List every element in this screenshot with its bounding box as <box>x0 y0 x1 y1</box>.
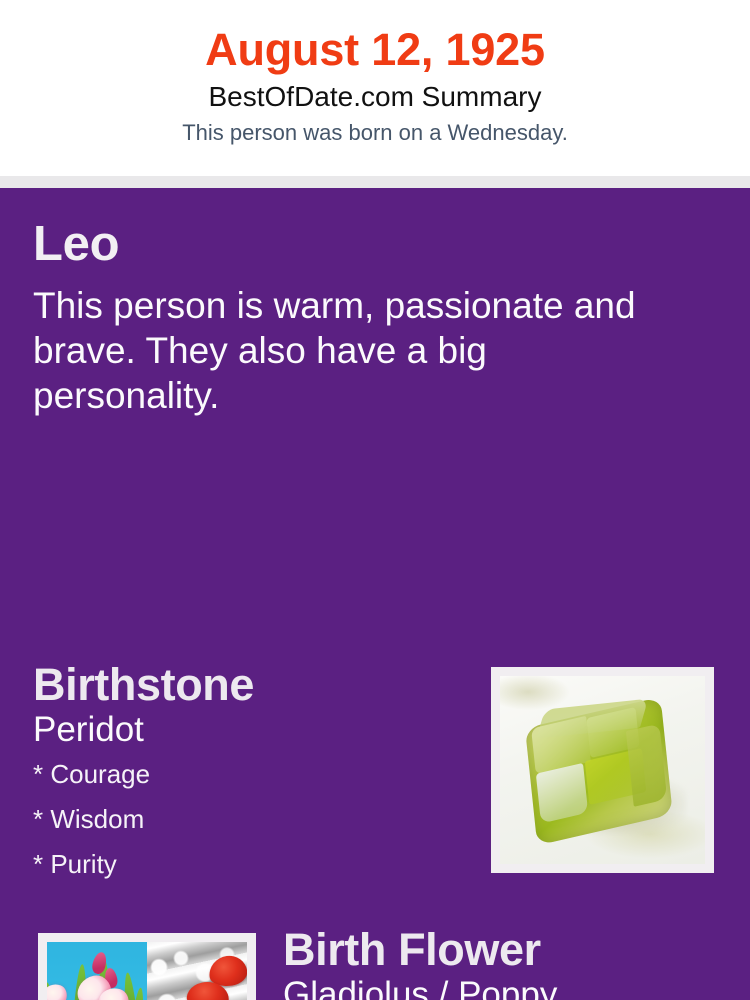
birthstone-title: Birthstone <box>33 662 463 709</box>
birthstone-name: Peridot <box>33 709 463 750</box>
gem-shape <box>523 695 679 849</box>
birthstone-photo-frame <box>491 667 714 873</box>
born-day-text: This person was born on a Wednesday. <box>0 113 750 145</box>
birth-flower-title: Birth Flower <box>283 927 723 974</box>
birth-flower-section: Birth Flower Gladiolus / Poppy * Strengt… <box>283 927 723 1000</box>
site-name-subtitle: BestOfDate.com Summary <box>0 73 750 113</box>
gladiolus-photo-half <box>47 942 147 1000</box>
birth-flower-photo-frame <box>38 933 256 1000</box>
birthstone-trait-list: * Courage * Wisdom * Purity <box>33 749 463 896</box>
zodiac-sign-title: Leo <box>33 220 693 269</box>
page-title-date: August 12, 1925 <box>0 0 750 73</box>
birth-flower-name: Gladiolus / Poppy <box>283 974 723 1000</box>
poppy-photo-half <box>147 942 247 1000</box>
list-item: * Wisdom <box>33 806 463 851</box>
content-panel: Leo This person is warm, passionate and … <box>0 188 750 1000</box>
zodiac-section: Leo This person is warm, passionate and … <box>33 220 693 418</box>
peridot-gemstone-image <box>500 676 705 864</box>
birthstone-section: Birthstone Peridot * Courage * Wisdom * … <box>33 662 463 896</box>
date-summary-card: August 12, 1925 BestOfDate.com Summary T… <box>0 0 750 1000</box>
gladiolus-and-poppy-image <box>47 942 247 1000</box>
zodiac-description: This person is warm, passionate and brav… <box>33 269 683 418</box>
list-item: * Courage <box>33 761 463 806</box>
card-header: August 12, 1925 BestOfDate.com Summary T… <box>0 0 750 176</box>
header-divider <box>0 176 750 188</box>
list-item: * Purity <box>33 851 463 896</box>
